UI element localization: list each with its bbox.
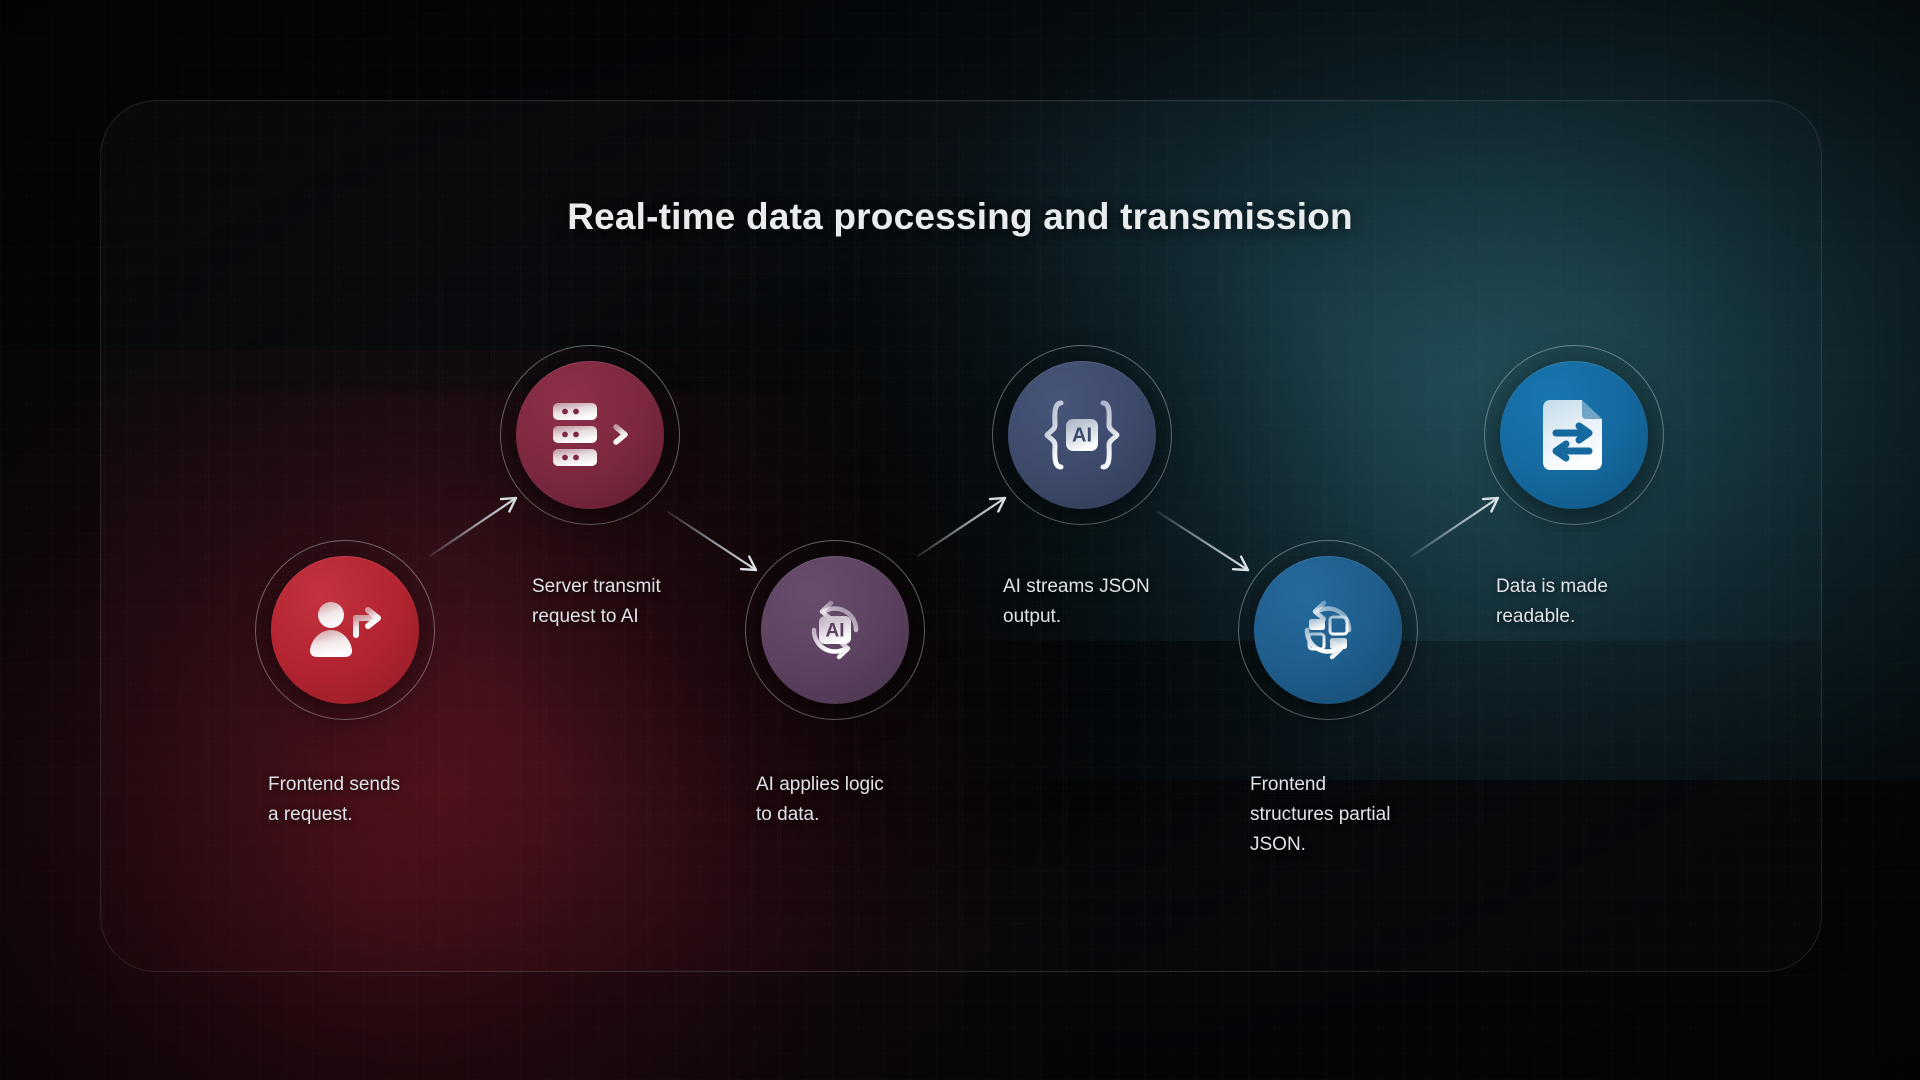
node-disc-1[interactable] <box>271 556 419 704</box>
svg-text:AI: AI <box>826 621 845 642</box>
flow-caption-6: Data is made readable. <box>1496 572 1608 632</box>
ai-braces-icon: AI <box>1039 397 1125 473</box>
blocks-refresh-icon <box>1286 588 1370 672</box>
node-disc-5[interactable] <box>1254 556 1402 704</box>
node-disc-6[interactable] <box>1500 361 1648 509</box>
flow-caption-1: Frontend sends a request. <box>268 770 400 830</box>
svg-text:AI: AI <box>1072 425 1092 447</box>
ai-refresh-icon: AI <box>793 588 877 672</box>
document-transfer-icon <box>1542 398 1606 472</box>
flow-node-3[interactable]: AI <box>745 540 925 720</box>
flow-node-6[interactable] <box>1484 345 1664 525</box>
flow-steps-layer: Frontend sends a request. Server transmi… <box>0 0 1920 1080</box>
flow-caption-5: Frontend structures partial JSON. <box>1250 770 1390 860</box>
node-disc-4[interactable]: AI <box>1008 361 1156 509</box>
node-disc-2[interactable] <box>516 361 664 509</box>
flow-node-2[interactable] <box>500 345 680 525</box>
diagram-canvas: Real-time data processing and transmissi… <box>0 0 1920 1080</box>
page-title: Real-time data processing and transmissi… <box>0 196 1920 238</box>
flow-node-5[interactable] <box>1238 540 1418 720</box>
flow-node-1[interactable] <box>255 540 435 720</box>
node-disc-3[interactable]: AI <box>761 556 909 704</box>
flow-caption-4: AI streams JSON output. <box>1003 572 1150 632</box>
user-forward-icon <box>308 597 382 663</box>
server-transmit-icon <box>551 401 629 469</box>
flow-node-4[interactable]: AI <box>992 345 1172 525</box>
flow-caption-2: Server transmit request to AI <box>532 572 661 632</box>
flow-caption-3: AI applies logic to data. <box>756 770 884 830</box>
